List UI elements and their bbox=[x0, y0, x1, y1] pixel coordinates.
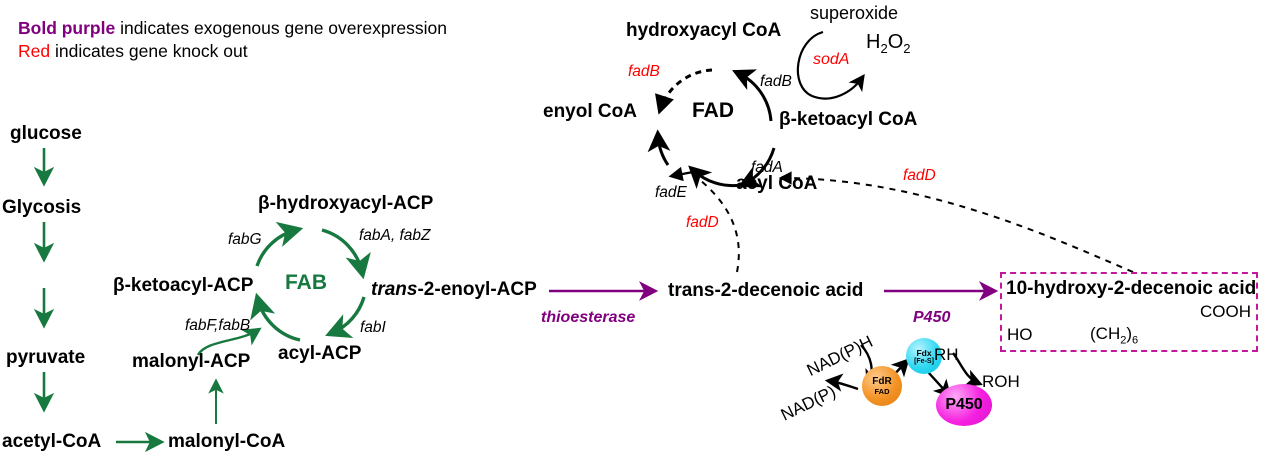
enzyme-p450-label: P450 bbox=[913, 310, 950, 327]
node-fdr-enzyme: FdR FAD bbox=[862, 366, 902, 406]
fdr-name: FdR bbox=[872, 376, 891, 387]
h2o2-o: O bbox=[888, 31, 904, 53]
node-beta-ketoacyl-acp: β-ketoacyl-ACP bbox=[113, 276, 253, 296]
enzyme-fadb: fadB bbox=[760, 74, 792, 90]
node-enyol-coa: enyol CoA bbox=[543, 102, 637, 122]
fdx-name: Fdx bbox=[916, 348, 931, 358]
node-acyl-acp: acyl-ACP bbox=[278, 344, 361, 364]
fad-cycle-center-label: FAD bbox=[692, 100, 734, 122]
trans-prefix: trans bbox=[371, 279, 417, 300]
fade-arrow bbox=[672, 172, 693, 176]
node-acetyl-coa: acetyl-CoA bbox=[2, 432, 101, 452]
node-hydrogen-peroxide: H2O2 bbox=[866, 32, 910, 56]
node-pyruvate: pyruvate bbox=[6, 348, 85, 368]
structure-label-ho: HO bbox=[1007, 326, 1033, 344]
fdr-cofactor: FAD bbox=[875, 387, 890, 396]
enzyme-soda-knockout: sodA bbox=[813, 52, 849, 69]
label-roh-product: ROH bbox=[982, 373, 1020, 391]
enzyme-fada: fadA bbox=[751, 160, 783, 176]
enzyme-fabf-fabb: fabF,fabB bbox=[185, 318, 250, 334]
node-malonyl-coa: malonyl-CoA bbox=[168, 432, 285, 452]
ch2-prefix: (CH bbox=[1090, 324, 1120, 343]
trans-suffix: -2-enoyl-ACP bbox=[417, 279, 536, 300]
structure-label-ch2-6: (CH2)6 bbox=[1090, 325, 1138, 347]
node-beta-hydroxyacyl-acp: β-hydroxyacyl-ACP bbox=[258, 194, 433, 214]
node-acyl-coa: acyl CoA bbox=[736, 174, 817, 194]
structure-label-cooh: COOH bbox=[1200, 303, 1251, 321]
enzyme-faba-fabz: fabA, fabZ bbox=[359, 228, 431, 244]
node-superoxide: superoxide bbox=[810, 4, 898, 23]
enzyme-fadd-left: fadD bbox=[686, 215, 719, 231]
fab-cycle-center-label: FAB bbox=[285, 272, 327, 294]
h2o2-sub-1: 2 bbox=[880, 41, 887, 56]
node-glycosis: Glycosis bbox=[2, 198, 81, 218]
enzyme-fabi: fabI bbox=[360, 320, 386, 336]
node-trans-2-enoyl-acp: trans-2-enoyl-ACP bbox=[371, 280, 537, 300]
node-malonyl-acp: malonyl-ACP bbox=[132, 352, 250, 372]
h2o2-sub-2: 2 bbox=[903, 41, 910, 56]
label-rh-substrate: RH bbox=[934, 346, 959, 364]
node-hydroxyacyl-coa: hydroxyacyl CoA bbox=[626, 21, 781, 41]
node-beta-ketoacyl-coa: β-ketoacyl CoA bbox=[779, 110, 917, 130]
fadd-right-dashed-curve bbox=[782, 178, 1133, 272]
enzyme-fadd-right: fadD bbox=[903, 168, 936, 184]
pathway-diagram: Bold purple indicates exogenous gene ove… bbox=[0, 0, 1268, 464]
enzyme-fabg: fabG bbox=[228, 232, 262, 248]
ch2-count: 6 bbox=[1132, 334, 1138, 346]
enzyme-fadb-knockout: fadB bbox=[628, 64, 660, 80]
enzyme-thioesterase: thioesterase bbox=[541, 310, 635, 327]
node-glucose: glucose bbox=[10, 124, 82, 144]
fdx-cluster: [Fe-S] bbox=[914, 358, 934, 365]
product-title-10-hda: 10-hydroxy-2-decenoic acid bbox=[1006, 279, 1256, 299]
h2o2-h: H bbox=[866, 31, 880, 53]
enzyme-fade: fadE bbox=[655, 185, 687, 201]
p450-name: P450 bbox=[945, 396, 982, 414]
node-trans-2-decenoic-acid: trans-2-decenoic acid bbox=[668, 281, 863, 301]
